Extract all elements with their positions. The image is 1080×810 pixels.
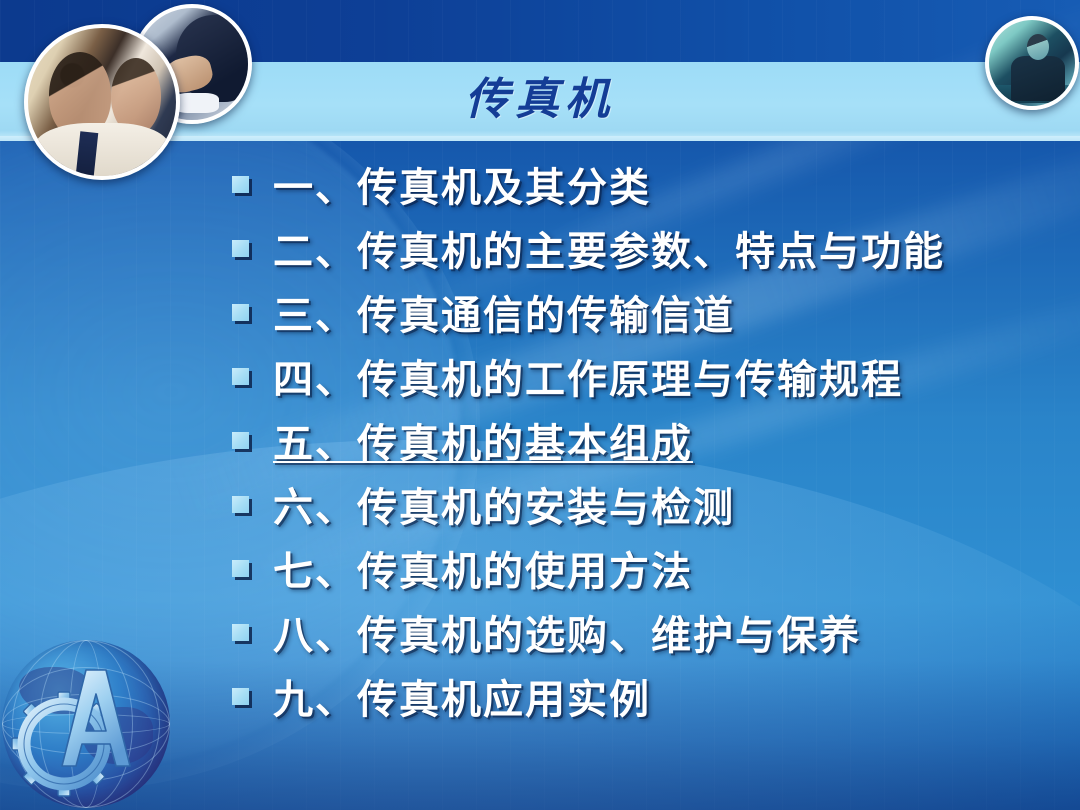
- globe-gear-a-logo: [2, 632, 178, 808]
- list-item-label: 三、传真通信的传输信道: [273, 283, 735, 341]
- square-bullet-icon: [232, 176, 249, 193]
- list-item[interactable]: 九、传真机应用实例: [232, 664, 1052, 728]
- list-item[interactable]: 四、传真机的工作原理与传输规程: [232, 344, 1052, 408]
- list-item-label: 九、传真机应用实例: [273, 667, 651, 725]
- list-item-label: 二、传真机的主要参数、特点与功能: [273, 219, 945, 277]
- square-bullet-icon: [232, 432, 249, 449]
- gear-and-letter-a-icon: [2, 632, 178, 808]
- list-item-label: 七、传真机的使用方法: [273, 539, 693, 597]
- square-bullet-icon: [232, 240, 249, 257]
- list-item[interactable]: 六、传真机的安装与检测: [232, 472, 1052, 536]
- office-photo-head: [1027, 34, 1049, 60]
- meeting-photo-shirt: [34, 123, 170, 180]
- square-bullet-icon: [232, 304, 249, 321]
- list-item[interactable]: 三、传真通信的传输信道: [232, 280, 1052, 344]
- presentation-slide: 传真机 一、传真机及其分类 二、传真机的主要参数、特点与功能 三、传真通信的传输…: [0, 0, 1080, 810]
- square-bullet-icon: [232, 688, 249, 705]
- list-item-label: 五、传真机的基本组成: [273, 411, 693, 469]
- office-photo-suit: [1011, 56, 1064, 101]
- square-bullet-icon: [232, 496, 249, 513]
- list-item[interactable]: 七、传真机的使用方法: [232, 536, 1052, 600]
- list-item-label: 八、传真机的选购、维护与保养: [273, 603, 861, 661]
- handshake-photo-cuff: [174, 93, 219, 113]
- list-item[interactable]: 五、传真机的基本组成: [232, 408, 1052, 472]
- list-item-label: 一、传真机及其分类: [273, 155, 651, 213]
- business-meeting-photo: [24, 24, 180, 180]
- list-item[interactable]: 八、传真机的选购、维护与保养: [232, 600, 1052, 664]
- list-item-label: 四、传真机的工作原理与传输规程: [273, 347, 903, 405]
- list-item-label: 六、传真机的安装与检测: [273, 475, 735, 533]
- square-bullet-icon: [232, 560, 249, 577]
- list-item[interactable]: 一、传真机及其分类: [232, 152, 1052, 216]
- square-bullet-icon: [232, 368, 249, 385]
- list-item[interactable]: 二、传真机的主要参数、特点与功能: [232, 216, 1052, 280]
- office-businessman-photo: [985, 16, 1079, 110]
- square-bullet-icon: [232, 624, 249, 641]
- outline-list: 一、传真机及其分类 二、传真机的主要参数、特点与功能 三、传真通信的传输信道 四…: [232, 152, 1052, 728]
